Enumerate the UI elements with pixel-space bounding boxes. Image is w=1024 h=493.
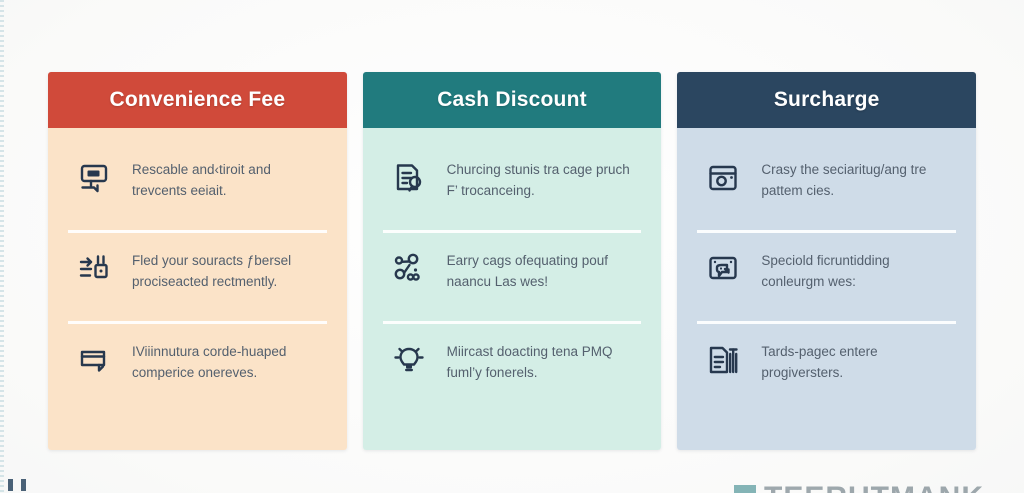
- card-cash-discount[interactable]: Cash Discount Churcing stuni: [363, 72, 662, 450]
- comparison-board: Convenience Fee Rescable and‹tiroit and …: [0, 0, 1024, 493]
- network-nodes-icon: [389, 249, 429, 289]
- feature-text: IViiinnutura corde-huaped comperice oner…: [132, 340, 322, 384]
- card-terminal-icon: [74, 158, 114, 198]
- card-title-surcharge: Surcharge: [774, 88, 880, 112]
- feature-item[interactable]: Earry cags ofequating pouf naancu Las we…: [383, 230, 642, 321]
- card-title-convenience-fee: Convenience Fee: [109, 88, 285, 112]
- card-body-cash-discount: Churcing stunis tra cage pruch F’ trocan…: [363, 128, 662, 450]
- feature-item[interactable]: Fled your souracts ƒbersel prociseacted …: [68, 230, 327, 321]
- feature-item[interactable]: Churcing stunis tra cage pruch F’ trocan…: [383, 142, 642, 230]
- wallet-icon: [74, 340, 114, 380]
- feature-item[interactable]: Rescable and‹tiroit and trevcents eeiait…: [68, 142, 327, 230]
- card-header-surcharge: Surcharge: [677, 72, 976, 128]
- lightbulb-icon: [389, 340, 429, 380]
- transfer-arrow-icon: [74, 249, 114, 289]
- card-surcharge[interactable]: Surcharge Crasy the seciaritug/ang tre p…: [677, 72, 976, 450]
- feature-text: Speciold ficruntidding conleurgm wes:: [761, 249, 951, 293]
- corner-tick-marks: [8, 479, 26, 491]
- feature-text: Fled your souracts ƒbersel prociseacted …: [132, 249, 322, 293]
- feature-item[interactable]: Speciold ficruntidding conleurgm wes:: [697, 230, 956, 321]
- browser-window-icon: [703, 158, 743, 198]
- footer-watermark-strip: TEERUTMANK: [0, 453, 1024, 493]
- card-header-cash-discount: Cash Discount: [363, 72, 662, 128]
- card-convenience-fee[interactable]: Convenience Fee Rescable and‹tiroit and …: [48, 72, 347, 450]
- document-ruler-icon: [703, 340, 743, 380]
- brand-name-text: TEERUTMANK: [764, 481, 984, 493]
- card-title-cash-discount: Cash Discount: [437, 88, 587, 112]
- card-header-convenience-fee: Convenience Fee: [48, 72, 347, 128]
- feature-text: Crasy the seciaritug/ang tre pattem cies…: [761, 158, 951, 202]
- brand-watermark: TEERUTMANK: [734, 481, 984, 493]
- feature-text: Rescable and‹tiroit and trevcents eeiait…: [132, 158, 322, 202]
- pricing-cards-row: Convenience Fee Rescable and‹tiroit and …: [48, 72, 976, 450]
- feature-text: Tards-pagec entere progiversters.: [761, 340, 951, 384]
- card-body-surcharge: Crasy the seciaritug/ang tre pattem cies…: [677, 128, 976, 450]
- flag-mark-icon: [734, 485, 756, 493]
- document-search-icon: [389, 158, 429, 198]
- feature-item[interactable]: Crasy the seciaritug/ang tre pattem cies…: [697, 142, 956, 230]
- card-body-convenience-fee: Rescable and‹tiroit and trevcents eeiait…: [48, 128, 347, 450]
- feature-text: Miircast doacting tena PMQ fuml’y fonere…: [447, 340, 637, 384]
- tagged-panel-icon: [703, 249, 743, 289]
- feature-item[interactable]: Tards-pagec entere progiversters.: [697, 321, 956, 412]
- feature-text: Earry cags ofequating pouf naancu Las we…: [447, 249, 637, 293]
- feature-text: Churcing stunis tra cage pruch F’ trocan…: [447, 158, 637, 202]
- feature-item[interactable]: Miircast doacting tena PMQ fuml’y fonere…: [383, 321, 642, 412]
- feature-item[interactable]: IViiinnutura corde-huaped comperice oner…: [68, 321, 327, 412]
